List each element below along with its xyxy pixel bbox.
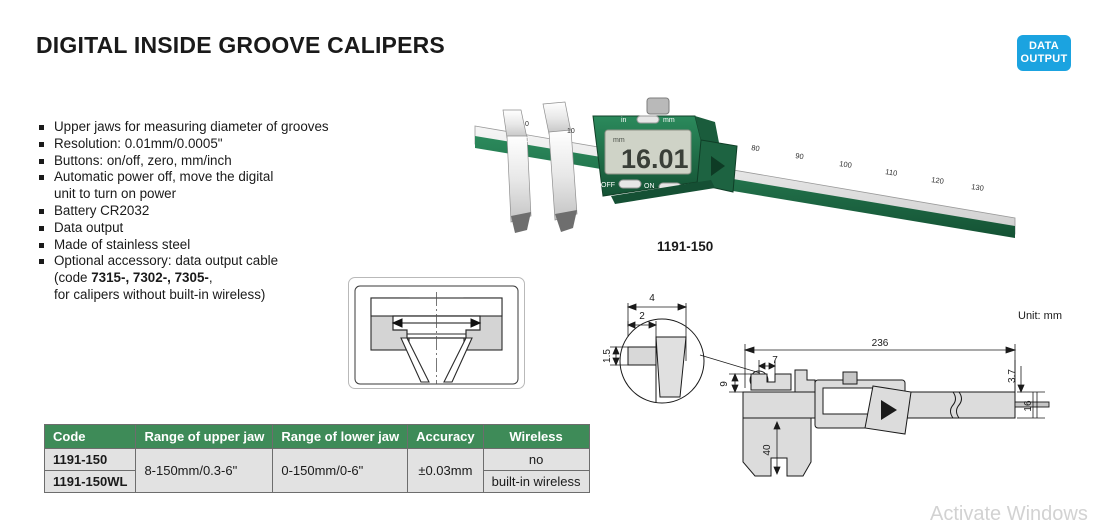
dim-label-236: 236	[872, 338, 889, 349]
list-item: Automatic power off, move the digital	[38, 169, 398, 186]
column-header-range-lower: Range of lower jaw	[273, 425, 408, 449]
table-header-row: Code Range of upper jaw Range of lower j…	[45, 425, 590, 449]
lcd-unit-label: mm	[613, 137, 625, 144]
column-header-range-upper: Range of upper jaw	[136, 425, 273, 449]
technical-drawing: 236 7 9	[715, 330, 1055, 505]
dim-label-40: 40	[762, 444, 773, 456]
column-header-code: Code	[45, 425, 136, 449]
beam-inch-4: 4	[865, 184, 870, 192]
thumb-roller-icon	[647, 98, 669, 114]
feature-text-continuation: unit to turn on power	[54, 186, 176, 201]
dim-label-7: 7	[772, 355, 778, 366]
accessory-note: for calipers without built-in wireless)	[54, 287, 265, 302]
drawing-lcd	[823, 388, 875, 414]
button-label-on: ON	[644, 183, 655, 190]
windows-activation-watermark: Activate Windows	[930, 503, 1088, 526]
list-item-continuation: unit to turn on power	[38, 186, 398, 203]
beam-tick-110: 110	[885, 167, 898, 178]
cell-range-upper: 8-150mm/0.3-6"	[136, 449, 273, 493]
dim-label-9: 9	[719, 381, 730, 387]
list-item: Data output	[38, 220, 398, 237]
beam-inch-3: 3	[779, 169, 784, 177]
bullet-square-icon	[39, 243, 44, 248]
product-photo: 0 10 0 mm 16.01 in mm OFF ON ZERO 80 90 …	[415, 88, 1025, 238]
feature-text: Buttons: on/off, zero, mm/inch	[54, 153, 232, 168]
cell-code-1: 1191-150	[45, 449, 136, 471]
cell-accuracy: ±0.03mm	[408, 449, 484, 493]
accessory-prefix: (code	[54, 270, 91, 285]
bullet-square-icon	[39, 209, 44, 214]
groove-schematic-diagram	[348, 277, 525, 389]
bullet-square-icon	[39, 259, 44, 264]
cell-range-lower: 0-150mm/0-6"	[273, 449, 408, 493]
feature-text: Data output	[54, 220, 123, 235]
dim-label-1p5: 1.5	[602, 349, 613, 363]
list-item: Made of stainless steel	[38, 237, 398, 254]
jaw-step	[628, 347, 656, 365]
dim-label-2: 2	[639, 311, 645, 322]
cell-code-2: 1191-150WL	[45, 471, 136, 493]
dim-label-3p7: 3.7	[1007, 369, 1018, 383]
specification-table: Code Range of upper jaw Range of lower j…	[44, 424, 590, 493]
photo-caption: 1191-150	[657, 239, 713, 254]
column-header-accuracy: Accuracy	[408, 425, 484, 449]
feature-text: Made of stainless steel	[54, 237, 190, 252]
scale-label-0: 0	[525, 121, 529, 128]
dim-label-16: 16	[1023, 400, 1034, 412]
list-item: Resolution: 0.01mm/0.0005"	[38, 136, 398, 153]
table-row: 1191-150 8-150mm/0.3-6" 0-150mm/0-6" ±0.…	[45, 449, 590, 471]
bullet-square-icon	[39, 125, 44, 130]
upper-jaw-fixed	[503, 102, 577, 233]
unit-toggle-button[interactable]	[637, 116, 659, 123]
bullet-square-icon	[39, 226, 44, 231]
bullet-square-icon	[39, 142, 44, 147]
digital-head: mm 16.01 in mm OFF ON ZERO	[593, 98, 737, 204]
beam-tick-90: 90	[795, 151, 805, 161]
power-button[interactable]	[619, 180, 641, 188]
list-item-continuation: for calipers without built-in wireless)	[38, 287, 398, 304]
jaw-body	[656, 337, 686, 397]
badge-line-2: OUTPUT	[1020, 53, 1067, 66]
scale-label-lower-0: 0	[525, 137, 529, 144]
page-title: DIGITAL INSIDE GROOVE CALIPERS	[36, 32, 445, 59]
drawing-roller	[843, 372, 857, 384]
feature-list: Upper jaws for measuring diameter of gro…	[38, 119, 398, 304]
feature-text: Automatic power off, move the digital	[54, 169, 273, 184]
beam-tick-130: 130	[971, 182, 985, 193]
button-label-in: in	[621, 117, 627, 124]
unit-note: Unit: mm	[1018, 310, 1062, 322]
dim-label-4: 4	[649, 293, 655, 304]
list-item: Optional accessory: data output cable	[38, 253, 398, 270]
button-label-mm: mm	[663, 117, 675, 124]
scale-label-10: 10	[567, 128, 575, 135]
bullet-square-icon	[39, 159, 44, 164]
feature-text: Upper jaws for measuring diameter of gro…	[54, 119, 329, 134]
bullet-square-icon	[39, 175, 44, 180]
beam-tick-100: 100	[839, 159, 853, 170]
feature-text: Resolution: 0.01mm/0.0005"	[54, 136, 223, 151]
list-item: Battery CR2032	[38, 203, 398, 220]
accessory-suffix: ,	[209, 270, 213, 285]
accessory-codes: 7315-, 7302-, 7305-	[91, 270, 209, 285]
cell-wireless-2: built-in wireless	[483, 471, 589, 493]
column-header-wireless: Wireless	[483, 425, 589, 449]
data-output-badge: DATA OUTPUT	[1017, 35, 1071, 71]
dimension-9	[729, 374, 751, 392]
beam-tick-80: 80	[751, 143, 761, 153]
badge-line-1: DATA	[1029, 40, 1059, 53]
list-item-continuation: (code 7315-, 7302-, 7305-,	[38, 270, 398, 287]
feature-text: Optional accessory: data output cable	[54, 253, 278, 268]
lcd-value: 16.01	[621, 144, 689, 174]
beam-tick-120: 120	[931, 175, 945, 186]
list-item: Buttons: on/off, zero, mm/inch	[38, 153, 398, 170]
feature-text: Battery CR2032	[54, 203, 149, 218]
list-item: Upper jaws for measuring diameter of gro…	[38, 119, 398, 136]
cell-wireless-1: no	[483, 449, 589, 471]
button-label-off: OFF	[601, 182, 615, 189]
caliper-outline	[743, 370, 1049, 476]
